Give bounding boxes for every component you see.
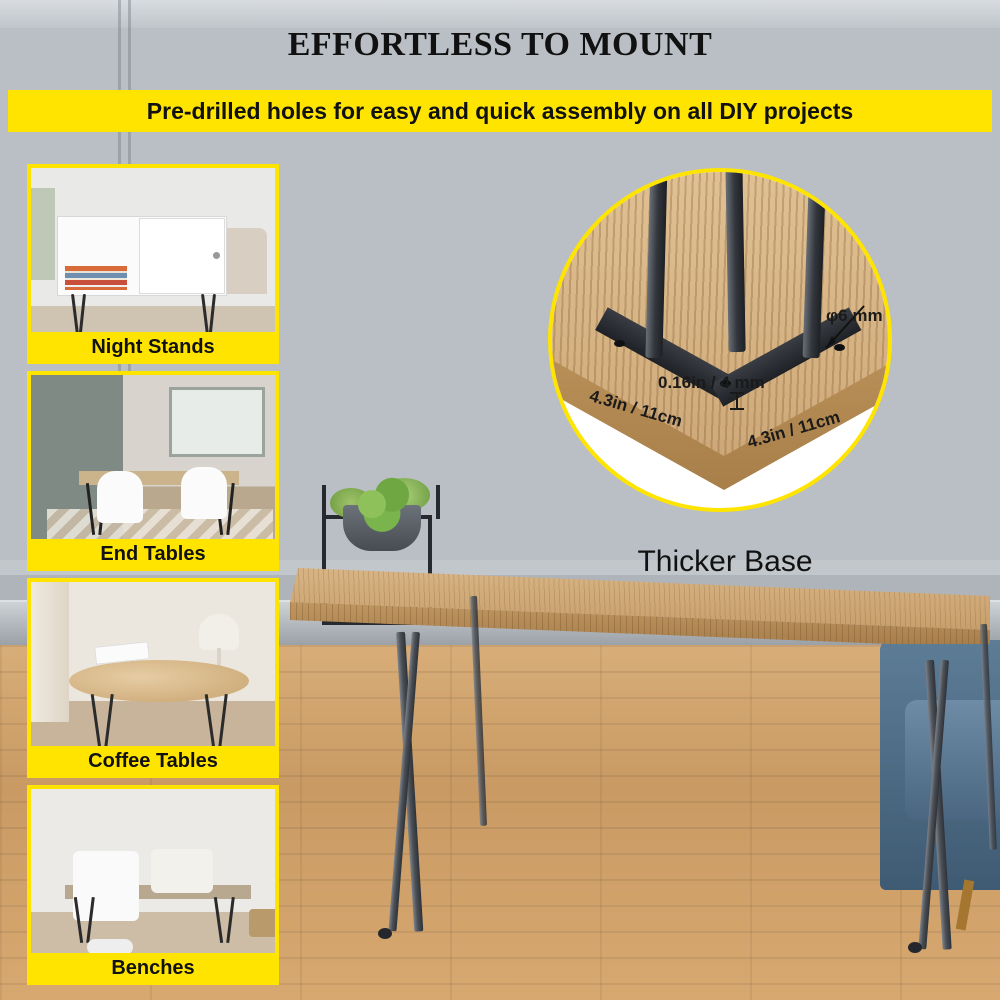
subtitle-text: Pre-drilled holes for easy and quick ass… xyxy=(147,98,853,125)
dim-rod-diameter: φ6 mm xyxy=(826,306,883,326)
thumbnail-benches[interactable]: Benches xyxy=(27,785,279,985)
leg-foot-front-left xyxy=(378,928,392,939)
thumbnail-label: Benches xyxy=(27,953,279,985)
plant-foliage xyxy=(340,470,424,532)
thumbnail-coffee-tables[interactable]: Coffee Tables xyxy=(27,578,279,778)
use-case-thumbnail-column: Night Stands End Tables xyxy=(27,164,279,992)
hairpin-leg xyxy=(214,897,223,943)
hairpin-leg xyxy=(226,897,235,943)
thumbnail-label: Coffee Tables xyxy=(27,746,279,778)
cabinet-knob xyxy=(213,252,220,259)
woven-basket xyxy=(249,909,279,937)
pillow xyxy=(151,849,213,893)
table-top xyxy=(290,568,990,658)
thumbnail-night-stands[interactable]: Night Stands xyxy=(27,164,279,364)
plant-decor xyxy=(31,188,55,280)
inset-caption: Thicker Base xyxy=(560,545,890,579)
leg-foot-front-right xyxy=(908,942,922,953)
table-lamp-shade xyxy=(199,614,239,650)
dim-plate-thickness: 0.16in / 4 mm xyxy=(658,373,765,393)
thumbnail-label: Night Stands xyxy=(27,332,279,364)
page-title: EFFORTLESS TO MOUNT xyxy=(0,26,1000,64)
thumbnail-label: End Tables xyxy=(27,539,279,571)
window xyxy=(169,387,265,457)
predrilled-hole xyxy=(614,340,625,347)
throw-blanket xyxy=(73,851,139,921)
dim-thickness-cap-top xyxy=(730,392,744,394)
dim-thickness-cap-bottom xyxy=(730,408,744,410)
dim-thickness-tick xyxy=(736,393,738,409)
books xyxy=(65,266,127,290)
live-edge-slab-top xyxy=(69,660,249,702)
dining-chair xyxy=(97,471,143,523)
subtitle-banner: Pre-drilled holes for easy and quick ass… xyxy=(8,90,992,132)
detail-closeup-circle xyxy=(548,168,892,512)
product-infographic: EFFORTLESS TO MOUNT Pre-drilled holes fo… xyxy=(0,0,1000,1000)
hairpin-rod-center xyxy=(725,168,745,352)
thumbnail-end-tables[interactable]: End Tables xyxy=(27,371,279,571)
ceiling-molding xyxy=(0,0,1000,28)
dining-chair xyxy=(181,467,227,519)
curtain xyxy=(31,582,69,722)
